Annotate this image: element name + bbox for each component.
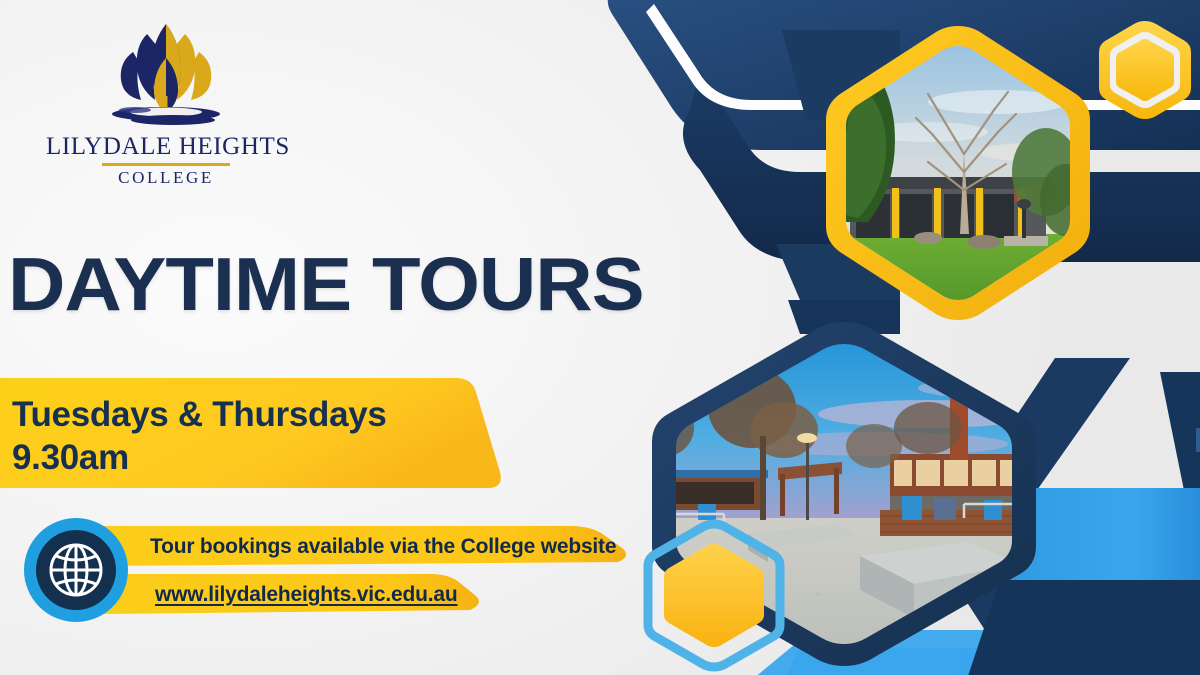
college-website-link[interactable]: www.lilydaleheights.vic.edu.au <box>155 583 457 607</box>
session-details: Tuesdays & Thursdays 9.30am <box>12 394 387 479</box>
session-days: Tuesdays & Thursdays <box>12 394 387 437</box>
lotus-leaf-logo-icon <box>95 18 237 128</box>
globe-icon <box>22 516 130 624</box>
booking-instruction: Tour bookings available via the College … <box>150 535 616 559</box>
college-logo: LILYDALE HEIGHTS COLLEGE <box>46 18 286 188</box>
logo-divider <box>102 163 230 166</box>
session-time: 9.30am <box>12 437 387 480</box>
poster-canvas: BOOK NOW LILYDALE HEIGHTS COLLEGE <box>0 0 1200 675</box>
decorative-hexagon <box>1093 18 1197 122</box>
college-name-line2: COLLEGE <box>46 168 286 188</box>
campus-daytime-photo <box>808 22 1104 322</box>
booking-info: Tour bookings available via the College … <box>22 512 662 630</box>
session-banner: Tuesdays & Thursdays 9.30am <box>0 378 504 492</box>
page-title: DAYTIME TOURS <box>8 247 644 322</box>
book-now-button[interactable] <box>628 518 800 673</box>
college-name-line1: LILYDALE HEIGHTS <box>46 134 286 160</box>
